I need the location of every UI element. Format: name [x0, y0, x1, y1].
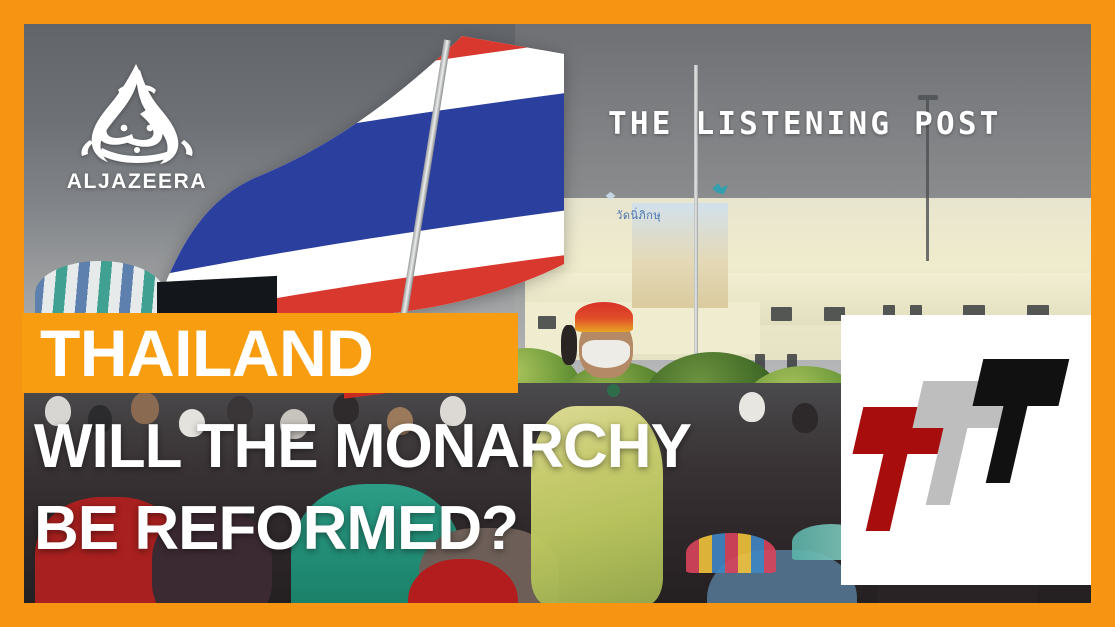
aljazeera-logo: ALJAZEERA	[62, 62, 212, 210]
umbrella	[686, 533, 776, 573]
protester-hair	[561, 325, 577, 365]
protester-face-mask	[582, 340, 630, 368]
show-title: THE LISTENING POST	[608, 106, 1002, 142]
crowd-person	[739, 392, 765, 422]
protester-beanie	[575, 302, 633, 332]
ttt-logo	[841, 315, 1091, 585]
crowd-person	[792, 403, 818, 433]
protester-pendant	[607, 384, 620, 397]
aljazeera-script-icon	[62, 62, 212, 174]
video-thumbnail: วัดนิ่ภิกษุ	[0, 0, 1115, 627]
headline-kicker-banner: THAILAND	[22, 313, 518, 393]
headline-line-1: WILL THE MONARCHY	[34, 416, 691, 478]
ttt-letter-black	[955, 359, 1070, 483]
aljazeera-wordmark: ALJAZEERA	[62, 170, 212, 194]
headline-kicker-text: THAILAND	[40, 320, 373, 386]
headline-line-2: BE REFORMED?	[34, 498, 518, 560]
thai-banner-text: วัดนิ่ภิกษุ	[616, 206, 661, 224]
